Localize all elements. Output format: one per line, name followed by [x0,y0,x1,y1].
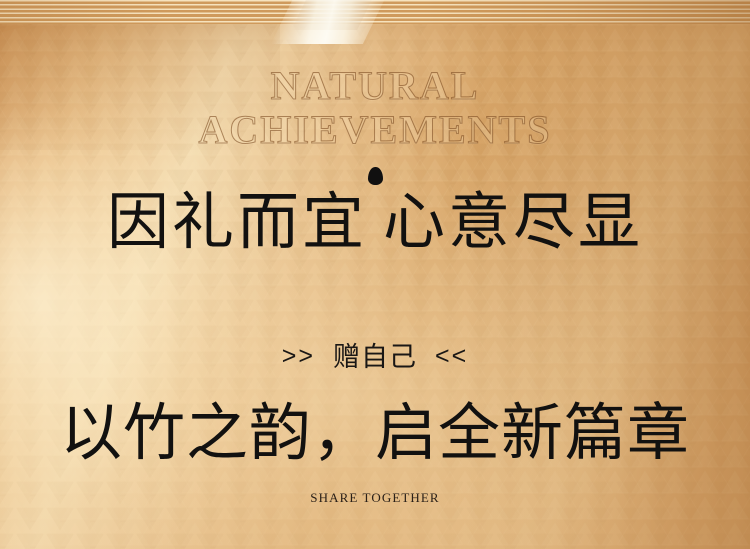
promo-banner: NATURAL ACHIEVEMENTS 因礼而宜心意尽显 >>赠自己<< 以竹… [0,0,750,549]
headline-primary-right: 心意尽显 [383,189,643,257]
headline-secondary: 以竹之韵，启全新篇章 [0,396,750,472]
footnote-text: SHARE TOGETHER [0,489,750,507]
headline-primary: 因礼而宜心意尽显 [0,186,750,260]
sub-label-text: 赠自己 [333,342,417,372]
chevrons-left-icon: << [435,342,468,370]
banner-content: NATURAL ACHIEVEMENTS 因礼而宜心意尽显 >>赠自己<< 以竹… [0,0,750,549]
teardrop-dot-icon [368,167,383,185]
headline-primary-left: 因礼而宜 [107,189,367,257]
sub-label-row: >>赠自己<< [0,339,750,374]
eyebrow-title: NATURAL ACHIEVEMENTS [0,64,750,152]
chevrons-right-icon: >> [282,342,315,370]
